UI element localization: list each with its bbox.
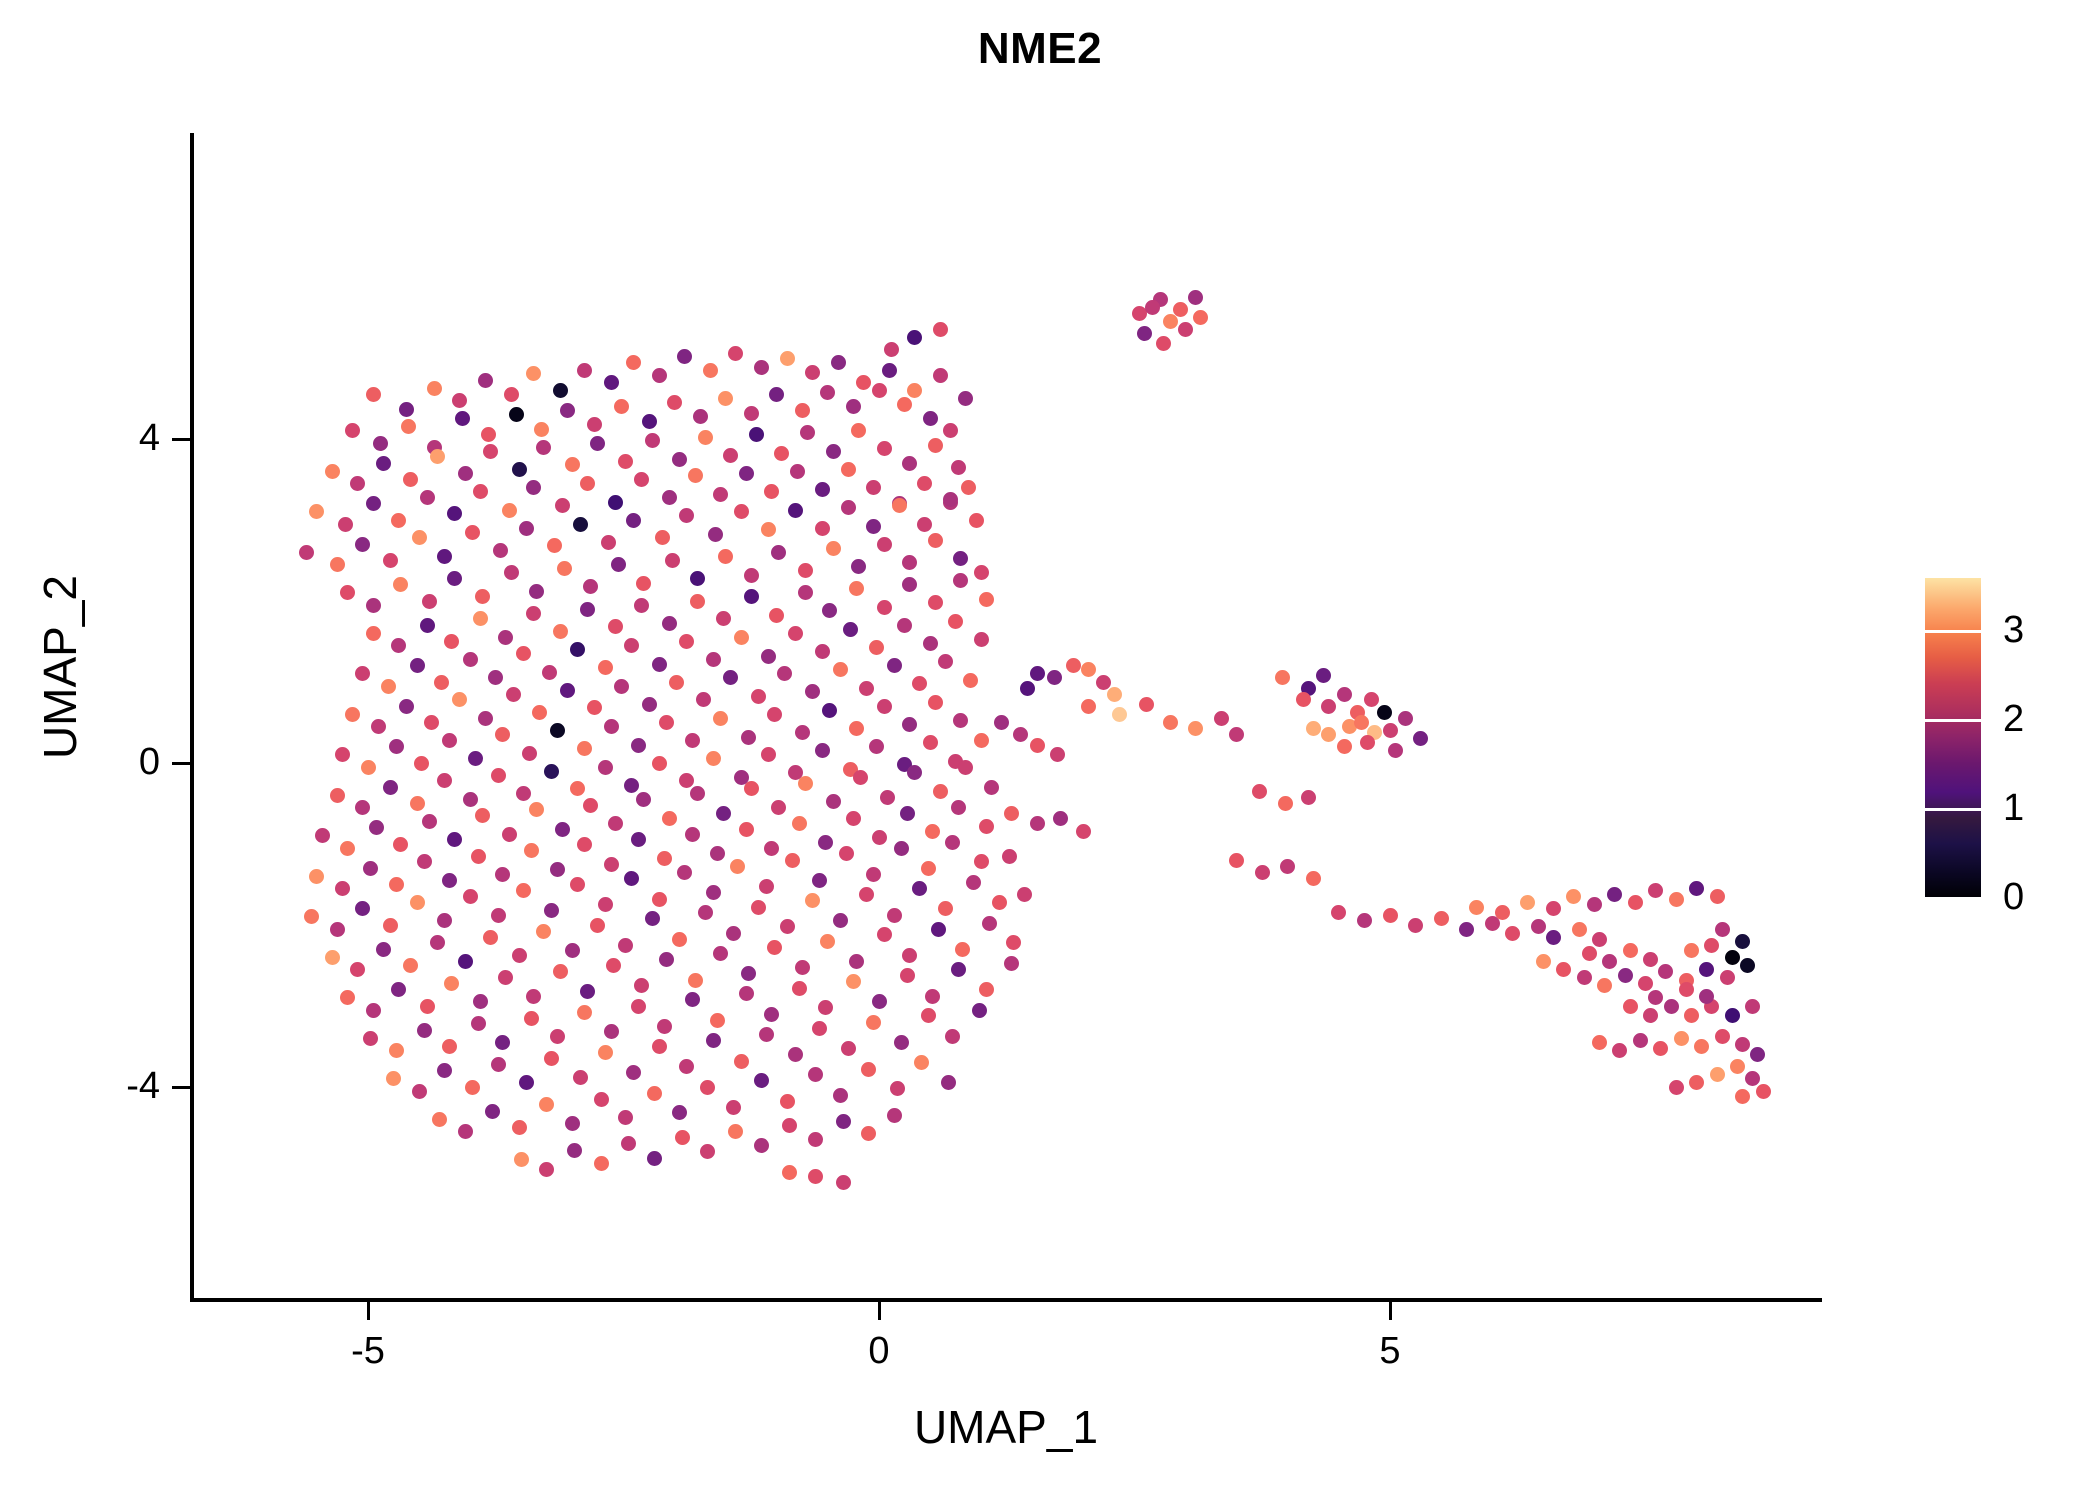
scatter-point xyxy=(902,717,917,732)
scatter-point xyxy=(618,454,633,469)
scatter-point xyxy=(437,773,452,788)
scatter-point xyxy=(690,594,705,609)
scatter-point xyxy=(621,1136,636,1151)
scatter-point xyxy=(921,861,936,876)
scatter-point xyxy=(524,843,539,858)
scatter-point xyxy=(391,513,406,528)
scatter-point xyxy=(624,871,639,886)
scatter-point xyxy=(611,557,626,572)
scatter-point xyxy=(565,457,580,472)
scatter-point xyxy=(516,883,531,898)
scatter-point xyxy=(925,989,940,1004)
scatter-point xyxy=(972,1003,987,1018)
scatter-point xyxy=(410,796,425,811)
scatter-point xyxy=(933,322,948,337)
x-axis-line xyxy=(190,1298,1822,1302)
scatter-point xyxy=(698,430,713,445)
scatter-point xyxy=(463,652,478,667)
scatter-point xyxy=(716,611,731,626)
scatter-point xyxy=(369,820,384,835)
scatter-point xyxy=(417,854,432,869)
scatter-point xyxy=(542,665,557,680)
scatter-point xyxy=(473,994,488,1009)
scatter-point xyxy=(1756,1084,1771,1099)
scatter-point xyxy=(371,719,386,734)
scatter-point xyxy=(877,441,892,456)
scatter-point xyxy=(478,711,493,726)
scatter-point xyxy=(1081,662,1096,677)
scatter-point xyxy=(677,349,692,364)
scatter-point xyxy=(412,530,427,545)
scatter-point xyxy=(1364,692,1379,707)
scatter-point xyxy=(826,794,841,809)
y-tick-label: -4 xyxy=(60,1065,160,1108)
scatter-point xyxy=(1587,897,1602,912)
scatter-point xyxy=(833,662,848,677)
scatter-point xyxy=(598,760,613,775)
colorbar-tick-label: 0 xyxy=(2003,876,2024,919)
scatter-point xyxy=(420,618,435,633)
scatter-point xyxy=(1684,1008,1699,1023)
scatter-point xyxy=(504,565,519,580)
scatter-point xyxy=(1434,911,1449,926)
scatter-point xyxy=(1653,1041,1668,1056)
scatter-point xyxy=(652,756,667,771)
scatter-point xyxy=(1710,1067,1725,1082)
scatter-point xyxy=(376,456,391,471)
scatter-point xyxy=(502,503,517,518)
scatter-point xyxy=(672,932,687,947)
scatter-point xyxy=(580,602,595,617)
scatter-point xyxy=(524,1011,539,1026)
scatter-point xyxy=(1214,711,1229,726)
scatter-point xyxy=(861,1062,876,1077)
scatter-point xyxy=(410,895,425,910)
scatter-point xyxy=(969,513,984,528)
scatter-point xyxy=(345,707,360,722)
scatter-point xyxy=(1388,743,1403,758)
scatter-point xyxy=(780,919,795,934)
scatter-point xyxy=(645,433,660,448)
scatter-point xyxy=(931,922,946,937)
scatter-point xyxy=(741,966,756,981)
scatter-point xyxy=(604,1024,619,1039)
scatter-point xyxy=(769,387,784,402)
scatter-point xyxy=(1188,721,1203,736)
scatter-point xyxy=(805,365,820,380)
scatter-point xyxy=(1623,999,1638,1014)
scatter-point xyxy=(1053,811,1068,826)
scatter-point xyxy=(897,397,912,412)
scatter-point xyxy=(880,790,895,805)
scatter-point xyxy=(614,399,629,414)
scatter-point xyxy=(1633,1033,1648,1048)
scatter-point xyxy=(315,828,330,843)
scatter-point xyxy=(872,383,887,398)
scatter-point xyxy=(1306,721,1321,736)
x-axis-label: UMAP_1 xyxy=(192,1400,1820,1454)
scatter-point xyxy=(808,1132,823,1147)
scatter-point xyxy=(577,1005,592,1020)
scatter-point xyxy=(662,490,677,505)
scatter-point xyxy=(636,792,651,807)
scatter-point xyxy=(366,387,381,402)
scatter-point xyxy=(805,684,820,699)
scatter-point xyxy=(839,846,854,861)
scatter-point xyxy=(567,1143,582,1158)
scatter-point xyxy=(1556,962,1571,977)
scatter-point xyxy=(553,624,568,639)
scatter-point xyxy=(897,618,912,633)
scatter-point xyxy=(570,642,585,657)
scatter-point xyxy=(330,557,345,572)
scatter-point xyxy=(1306,871,1321,886)
scatter-point xyxy=(961,480,976,495)
scatter-point xyxy=(782,1165,797,1180)
y-axis-label: UMAP_2 xyxy=(33,407,87,927)
scatter-point xyxy=(966,875,981,890)
scatter-point xyxy=(1648,883,1663,898)
x-tick-label: 5 xyxy=(1330,1330,1450,1373)
scatter-point xyxy=(984,780,999,795)
scatter-point xyxy=(608,619,623,634)
y-tick-mark xyxy=(172,762,190,765)
scatter-point xyxy=(631,738,646,753)
scatter-point xyxy=(761,747,776,762)
scatter-point xyxy=(1047,670,1062,685)
scatter-point xyxy=(512,462,527,477)
scatter-point xyxy=(833,913,848,928)
scatter-point xyxy=(516,786,531,801)
scatter-point xyxy=(677,865,692,880)
scatter-point xyxy=(539,1162,554,1177)
scatter-point xyxy=(1669,892,1684,907)
scatter-point xyxy=(1020,681,1035,696)
colorbar-tick-mark xyxy=(1925,630,1981,633)
scatter-point xyxy=(1572,922,1587,937)
scatter-point xyxy=(647,1151,662,1166)
scatter-point xyxy=(442,733,457,748)
scatter-point xyxy=(662,811,677,826)
scatter-point xyxy=(366,598,381,613)
scatter-point xyxy=(902,948,917,963)
scatter-point xyxy=(679,508,694,523)
scatter-point xyxy=(749,427,764,442)
scatter-point xyxy=(938,654,953,669)
scatter-point xyxy=(1607,887,1622,902)
scatter-point xyxy=(831,355,846,370)
scatter-point xyxy=(818,1000,833,1015)
scatter-point xyxy=(383,780,398,795)
scatter-point xyxy=(1030,738,1045,753)
scatter-point xyxy=(820,934,835,949)
scatter-point xyxy=(366,496,381,511)
scatter-point xyxy=(475,808,490,823)
scatter-point xyxy=(928,695,943,710)
scatter-point xyxy=(1735,934,1750,949)
scatter-point xyxy=(473,611,488,626)
scatter-point xyxy=(767,940,782,955)
scatter-point xyxy=(422,594,437,609)
scatter-point xyxy=(716,806,731,821)
scatter-point xyxy=(606,958,621,973)
scatter-point xyxy=(700,1144,715,1159)
scatter-point xyxy=(1321,727,1336,742)
scatter-point xyxy=(386,1071,401,1086)
scatter-point xyxy=(335,747,350,762)
scatter-point xyxy=(1546,901,1561,916)
scatter-point xyxy=(536,924,551,939)
scatter-point xyxy=(815,482,830,497)
scatter-point xyxy=(713,711,728,726)
scatter-point xyxy=(1735,1037,1750,1052)
scatter-point xyxy=(624,778,639,793)
scatter-point xyxy=(1684,943,1699,958)
scatter-point xyxy=(355,901,370,916)
scatter-point xyxy=(485,1104,500,1119)
scatter-point xyxy=(790,464,805,479)
scatter-point xyxy=(447,506,462,521)
scatter-point xyxy=(1280,859,1295,874)
scatter-point xyxy=(495,1035,510,1050)
scatter-point xyxy=(1628,895,1643,910)
scatter-point xyxy=(1229,853,1244,868)
scatter-point xyxy=(481,427,496,442)
scatter-point xyxy=(928,438,943,453)
scatter-point xyxy=(391,982,406,997)
colorbar-tick-label: 3 xyxy=(2003,609,2024,652)
scatter-point xyxy=(547,538,562,553)
scatter-point xyxy=(393,837,408,852)
scatter-point xyxy=(945,835,960,850)
scatter-point xyxy=(1321,699,1336,714)
scatter-point xyxy=(504,387,519,402)
scatter-point xyxy=(1004,806,1019,821)
scatter-point xyxy=(795,960,810,975)
scatter-point xyxy=(652,1039,667,1054)
scatter-point xyxy=(483,930,498,945)
scatter-point xyxy=(1408,918,1423,933)
scatter-point xyxy=(1337,739,1352,754)
scatter-point xyxy=(432,1112,447,1127)
scatter-point xyxy=(774,446,789,461)
scatter-point xyxy=(516,646,531,661)
scatter-point xyxy=(536,440,551,455)
scatter-point xyxy=(771,545,786,560)
scatter-point xyxy=(754,1138,769,1153)
scatter-point xyxy=(693,409,708,424)
scatter-point xyxy=(902,555,917,570)
scatter-point xyxy=(493,543,508,558)
scatter-point xyxy=(866,1015,881,1030)
scatter-point xyxy=(788,626,803,641)
scatter-point xyxy=(1076,824,1091,839)
scatter-point xyxy=(808,1169,823,1184)
scatter-point xyxy=(583,579,598,594)
scatter-point xyxy=(335,881,350,896)
scatter-point xyxy=(685,827,700,842)
scatter-point xyxy=(573,1070,588,1085)
scatter-point xyxy=(1006,935,1021,950)
scatter-point xyxy=(788,1047,803,1062)
scatter-point xyxy=(1107,687,1122,702)
scatter-point xyxy=(675,1130,690,1145)
scatter-point xyxy=(577,741,592,756)
scatter-point xyxy=(869,640,884,655)
scatter-point xyxy=(955,942,970,957)
scatter-point xyxy=(1229,727,1244,742)
scatter-point xyxy=(430,449,445,464)
scatter-point xyxy=(381,679,396,694)
scatter-point xyxy=(890,1081,905,1096)
scatter-point xyxy=(843,622,858,637)
scatter-point xyxy=(560,683,575,698)
scatter-point xyxy=(1577,970,1592,985)
scatter-point xyxy=(849,721,864,736)
scatter-point xyxy=(923,735,938,750)
x-tick-mark xyxy=(367,1302,370,1320)
scatter-point xyxy=(1156,336,1171,351)
scatter-point xyxy=(350,962,365,977)
scatter-point xyxy=(982,916,997,931)
scatter-point xyxy=(808,1067,823,1082)
scatter-point xyxy=(1638,976,1653,991)
scatter-point xyxy=(872,830,887,845)
scatter-point xyxy=(912,676,927,691)
scatter-point xyxy=(618,1110,633,1125)
scatter-point xyxy=(1735,1089,1750,1104)
scatter-point xyxy=(659,715,674,730)
scatter-point xyxy=(424,715,439,730)
scatter-point xyxy=(846,399,861,414)
scatter-point xyxy=(1546,930,1561,945)
scatter-point xyxy=(925,824,940,839)
scatter-point xyxy=(580,476,595,491)
scatter-point xyxy=(859,887,874,902)
scatter-point xyxy=(560,403,575,418)
scatter-point xyxy=(340,841,355,856)
scatter-point xyxy=(734,1054,749,1069)
scatter-point xyxy=(1316,668,1331,683)
colorbar-tick-label: 1 xyxy=(2003,787,2024,830)
colorbar-tick-mark xyxy=(1925,719,1981,722)
scatter-point xyxy=(455,411,470,426)
scatter-point xyxy=(1505,926,1520,941)
scatter-point xyxy=(826,541,841,556)
scatter-point xyxy=(526,480,541,495)
scatter-point xyxy=(1002,849,1017,864)
scatter-point xyxy=(1720,970,1735,985)
scatter-point xyxy=(894,841,909,856)
scatter-point xyxy=(514,1152,529,1167)
y-axis-line xyxy=(190,133,194,1302)
scatter-point xyxy=(662,616,677,631)
scatter-point xyxy=(933,368,948,383)
scatter-point xyxy=(1520,895,1535,910)
scatter-point xyxy=(953,573,968,588)
scatter-point xyxy=(1354,715,1369,730)
scatter-point xyxy=(795,403,810,418)
scatter-point xyxy=(812,873,827,888)
colorbar-gradient xyxy=(1925,578,1981,898)
scatter-point xyxy=(355,666,370,681)
scatter-point xyxy=(1592,932,1607,947)
scatter-point xyxy=(309,869,324,884)
scatter-point xyxy=(698,905,713,920)
scatter-point xyxy=(631,832,646,847)
scatter-point xyxy=(771,800,786,815)
scatter-point xyxy=(974,854,989,869)
scatter-point xyxy=(657,851,672,866)
scatter-point xyxy=(366,626,381,641)
scatter-point xyxy=(884,342,899,357)
scatter-point xyxy=(992,895,1007,910)
scatter-point xyxy=(1383,908,1398,923)
scatter-point xyxy=(355,537,370,552)
scatter-point xyxy=(452,393,467,408)
scatter-point xyxy=(841,1041,856,1056)
scatter-point xyxy=(759,1027,774,1042)
scatter-point xyxy=(723,448,738,463)
scatter-point xyxy=(894,1035,909,1050)
scatter-point xyxy=(565,1116,580,1131)
scatter-point xyxy=(447,832,462,847)
scatter-point xyxy=(645,911,660,926)
scatter-point xyxy=(726,1100,741,1115)
scatter-point xyxy=(818,835,833,850)
scatter-point xyxy=(1360,735,1375,750)
scatter-point xyxy=(877,927,892,942)
scatter-point xyxy=(583,798,598,813)
scatter-point xyxy=(647,1086,662,1101)
scatter-point xyxy=(1725,950,1740,965)
scatter-point xyxy=(534,422,549,437)
scatter-point xyxy=(383,553,398,568)
scatter-point xyxy=(718,549,733,564)
scatter-point xyxy=(1163,715,1178,730)
scatter-point xyxy=(1178,322,1193,337)
scatter-point xyxy=(1495,905,1510,920)
scatter-point xyxy=(917,476,932,491)
scatter-point xyxy=(974,632,989,647)
scatter-point xyxy=(403,472,418,487)
scatter-point xyxy=(923,636,938,651)
scatter-point xyxy=(1531,919,1546,934)
scatter-point xyxy=(325,464,340,479)
scatter-point xyxy=(1710,889,1725,904)
scatter-point xyxy=(739,466,754,481)
scatter-point xyxy=(1582,946,1597,961)
scatter-point xyxy=(634,978,649,993)
scatter-point xyxy=(553,383,568,398)
scatter-point xyxy=(468,751,483,766)
scatter-point xyxy=(526,606,541,621)
scatter-point xyxy=(836,1175,851,1190)
scatter-point xyxy=(626,513,641,528)
scatter-point xyxy=(488,670,503,685)
scatter-point xyxy=(634,472,649,487)
scatter-point xyxy=(594,1156,609,1171)
scatter-point xyxy=(553,964,568,979)
scatter-point xyxy=(483,444,498,459)
scatter-point xyxy=(604,719,619,734)
scatter-point xyxy=(340,585,355,600)
scatter-point xyxy=(1145,300,1160,315)
scatter-point xyxy=(815,521,830,536)
scatter-point xyxy=(512,948,527,963)
scatter-point xyxy=(526,989,541,1004)
scatter-point xyxy=(679,773,694,788)
